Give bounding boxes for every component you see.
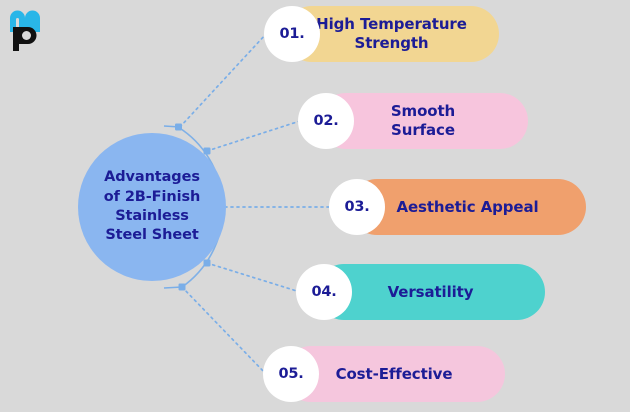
item-badge-02[interactable]: 02. — [298, 93, 354, 149]
item-row-03[interactable]: Aesthetic Appeal 03. — [329, 179, 630, 235]
item-label-04: Versatility — [388, 283, 474, 302]
connector-node — [204, 260, 211, 267]
item-badge-04[interactable]: 04. — [296, 264, 352, 320]
item-badge-03[interactable]: 03. — [329, 179, 385, 235]
item-number-01: 01. — [279, 26, 304, 42]
item-row-05[interactable]: Cost-Effective 05. — [263, 346, 630, 402]
item-label-02: Smooth Surface — [391, 102, 455, 140]
item-row-04[interactable]: Versatility 04. — [296, 264, 630, 320]
central-hub: Advantages of 2B-Finish Stainless Steel … — [78, 133, 226, 281]
connector-node — [204, 148, 211, 155]
item-number-03: 03. — [344, 199, 369, 215]
item-row-01[interactable]: High Temperature Strength 01. — [264, 6, 630, 62]
item-badge-01[interactable]: 01. — [264, 6, 320, 62]
item-number-02: 02. — [313, 113, 338, 129]
brand-logo-icon — [8, 10, 54, 54]
item-row-02[interactable]: Smooth Surface 02. — [298, 93, 630, 149]
item-badge-05[interactable]: 05. — [263, 346, 319, 402]
item-label-05: Cost-Effective — [336, 365, 453, 384]
connector-node — [175, 124, 182, 131]
item-label-03: Aesthetic Appeal — [396, 198, 538, 217]
item-number-04: 04. — [311, 284, 336, 300]
connector-node — [179, 284, 186, 291]
item-number-05: 05. — [278, 366, 303, 382]
hub-title: Advantages of 2B-Finish Stainless Steel … — [84, 168, 220, 245]
infographic-canvas: Advantages of 2B-Finish Stainless Steel … — [0, 0, 630, 412]
item-label-01: High Temperature Strength — [316, 15, 467, 53]
